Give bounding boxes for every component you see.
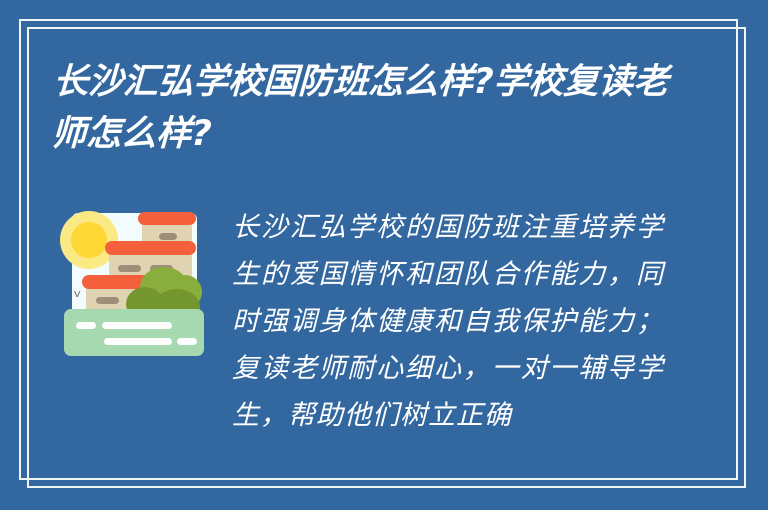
sun-core-icon (71, 222, 107, 258)
roof-middle (105, 241, 196, 255)
placeholder-bar-2 (102, 322, 172, 329)
window-middle-left (118, 265, 141, 272)
window-back (159, 233, 177, 240)
poster-canvas: 长沙汇弘学校国防班怎么样?学校复读老师怎么样? ⱽ (0, 0, 768, 510)
page-title: 长沙汇弘学校国防班怎么样?学校复读老师怎么样? (50, 56, 694, 160)
school-campus-illustration: ⱽ (58, 205, 213, 363)
content-row: ⱽ 长沙汇弘学校的国防班注重培养学生的爱国情怀和团队合作能力，同时强调身体健康和… (0, 196, 768, 496)
window-front (96, 297, 119, 304)
placeholder-bar-1 (76, 322, 96, 329)
roof-back (138, 212, 196, 225)
placeholder-bar-4 (177, 338, 197, 345)
bird-icon: ⱽ (74, 293, 90, 302)
body-paragraph: 长沙汇弘学校的国防班注重培养学生的爱国情怀和团队合作能力，同时强调身体健康和自我… (232, 204, 664, 439)
placeholder-bar-3 (104, 338, 172, 345)
text-card-panel (64, 309, 204, 356)
